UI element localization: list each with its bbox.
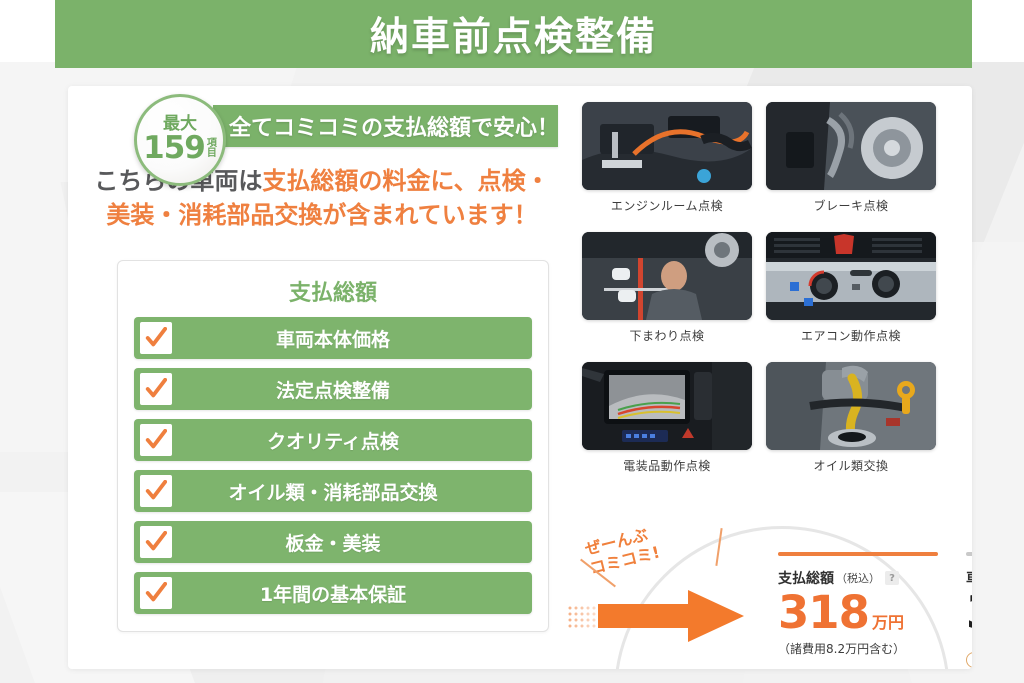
engine-bay-photo <box>582 102 752 190</box>
checkbox-checked-icon <box>140 526 172 558</box>
total-price-label-text: 支払総額 <box>778 568 834 588</box>
inspection-photo-cell[interactable]: ブレーキ点検 <box>766 102 936 214</box>
inspection-photo-cell[interactable]: 下まわり点検 <box>582 232 752 344</box>
checklist-row: 板金・美装 <box>134 521 532 563</box>
total-price-tax-note: （税込） <box>836 570 880 586</box>
checkbox-checked-icon <box>140 475 172 507</box>
subheading-band: 全てコミコミの支払総額で安心！ <box>213 105 558 147</box>
checklist-row: オイル類・消耗部品交換 <box>134 470 532 512</box>
checklist-item-label: 車両本体価格 <box>172 325 494 352</box>
checklist-row: 車両本体価格 <box>134 317 532 359</box>
checkbox-checked-icon <box>140 577 172 609</box>
included-items-title: 支払総額 <box>118 275 548 307</box>
body-price-rule <box>966 552 972 556</box>
inspection-photo-cell[interactable]: エンジンルーム点検 <box>582 102 752 214</box>
body-price-label: 車両本体価 <box>966 568 972 588</box>
badge-number: 159 <box>143 134 205 163</box>
body-price-block: 車両本体価 309 価格 <box>966 552 972 668</box>
play-circle-icon <box>966 652 972 668</box>
subheading-row: 全てコミコミの支払総額で安心！ 最大 159 項 目 <box>138 103 558 151</box>
inspection-photo-caption: オイル類交換 <box>766 457 936 474</box>
badge-number-row: 159 項 目 <box>143 134 217 163</box>
included-items-panel: 支払総額 車両本体価格法定点検整備クオリティ点検オイル類・消耗部品交換板金・美装… <box>117 260 549 632</box>
included-items-list: 車両本体価格法定点検整備クオリティ点検オイル類・消耗部品交換板金・美装1年間の基… <box>134 317 532 614</box>
total-price-unit: 万円 <box>872 609 904 633</box>
help-icon[interactable]: ? <box>885 571 899 585</box>
total-price-amount: 318 <box>778 590 869 636</box>
inspection-photo-cell[interactable]: 電装品動作点検 <box>582 362 752 474</box>
badge-unit-line2: 目 <box>207 149 217 159</box>
left-column: 全てコミコミの支払総額で安心！ 最大 159 項 目 こちらの車両は支払総額の料… <box>68 86 568 669</box>
total-price-block: 支払総額 （税込） ? 318 万円 （諸費用8.2万円含む） <box>778 552 972 657</box>
lead-text-orange-1: 支払総額の料金に、点検・ <box>262 167 549 195</box>
price-history-link[interactable]: 価格 <box>966 652 972 668</box>
navigation-display-photo <box>582 362 752 450</box>
checklist-item-label: オイル類・消耗部品交換 <box>172 478 494 505</box>
total-price-label: 支払総額 （税込） ? <box>778 568 972 588</box>
inspection-photo-caption: エアコン動作点検 <box>766 327 936 344</box>
promo-arrow <box>568 582 778 644</box>
total-price-amount-row: 318 万円 <box>778 590 972 636</box>
body-price-amount-row: 309 <box>966 590 972 636</box>
checklist-row: クオリティ点検 <box>134 419 532 461</box>
checklist-item-label: 1年間の基本保証 <box>172 580 494 607</box>
inspection-photo-cell[interactable]: エアコン動作点検 <box>766 232 936 344</box>
total-price-note: （諸費用8.2万円含む） <box>778 640 972 657</box>
checkbox-checked-icon <box>140 424 172 456</box>
oil-change-photo <box>766 362 936 450</box>
air-conditioner-panel-photo <box>766 232 936 320</box>
inspection-photo-grid: エンジンルーム点検ブレーキ点検下まわり点検エアコン動作点検電装品動作点検オイル類… <box>568 86 972 506</box>
checklist-row: 1年間の基本保証 <box>134 572 532 614</box>
page-header-band: 納車前点検整備 <box>55 0 972 68</box>
max-items-badge: 最大 159 項 目 <box>134 94 226 186</box>
checklist-item-label: クオリティ点検 <box>172 427 494 454</box>
checklist-row: 法定点検整備 <box>134 368 532 410</box>
badge-unit: 項 目 <box>207 139 217 160</box>
checklist-item-label: 法定点検整備 <box>172 376 494 403</box>
underbody-inspection-photo <box>582 232 752 320</box>
inspection-photo-caption: エンジンルーム点検 <box>582 197 752 214</box>
total-price-rule <box>778 552 938 556</box>
inspection-photo-caption: 電装品動作点検 <box>582 457 752 474</box>
price-summary-zone: ぜーんぶ コミコミ! <box>568 510 972 669</box>
inspection-photo-caption: 下まわり点検 <box>582 327 752 344</box>
page-root: 納車前点検整備 全てコミコミの支払総額で安心！ 最大 159 項 目 <box>0 0 1024 683</box>
body-price-amount: 309 <box>966 590 972 636</box>
inspection-photo-caption: ブレーキ点検 <box>766 197 936 214</box>
inspection-photo-cell[interactable]: オイル類交換 <box>766 362 936 474</box>
content-card: 全てコミコミの支払総額で安心！ 最大 159 項 目 こちらの車両は支払総額の料… <box>68 86 972 669</box>
page-title: 納車前点検整備 <box>370 6 657 62</box>
checkbox-checked-icon <box>140 322 172 354</box>
brake-disc-photo <box>766 102 936 190</box>
lead-text-orange-2: 美装・消耗部品交換が含まれています！ <box>106 201 537 229</box>
checklist-item-label: 板金・美装 <box>172 529 494 556</box>
checkbox-checked-icon <box>140 373 172 405</box>
subheading-text: 全てコミコミの支払総額で安心！ <box>229 110 559 142</box>
